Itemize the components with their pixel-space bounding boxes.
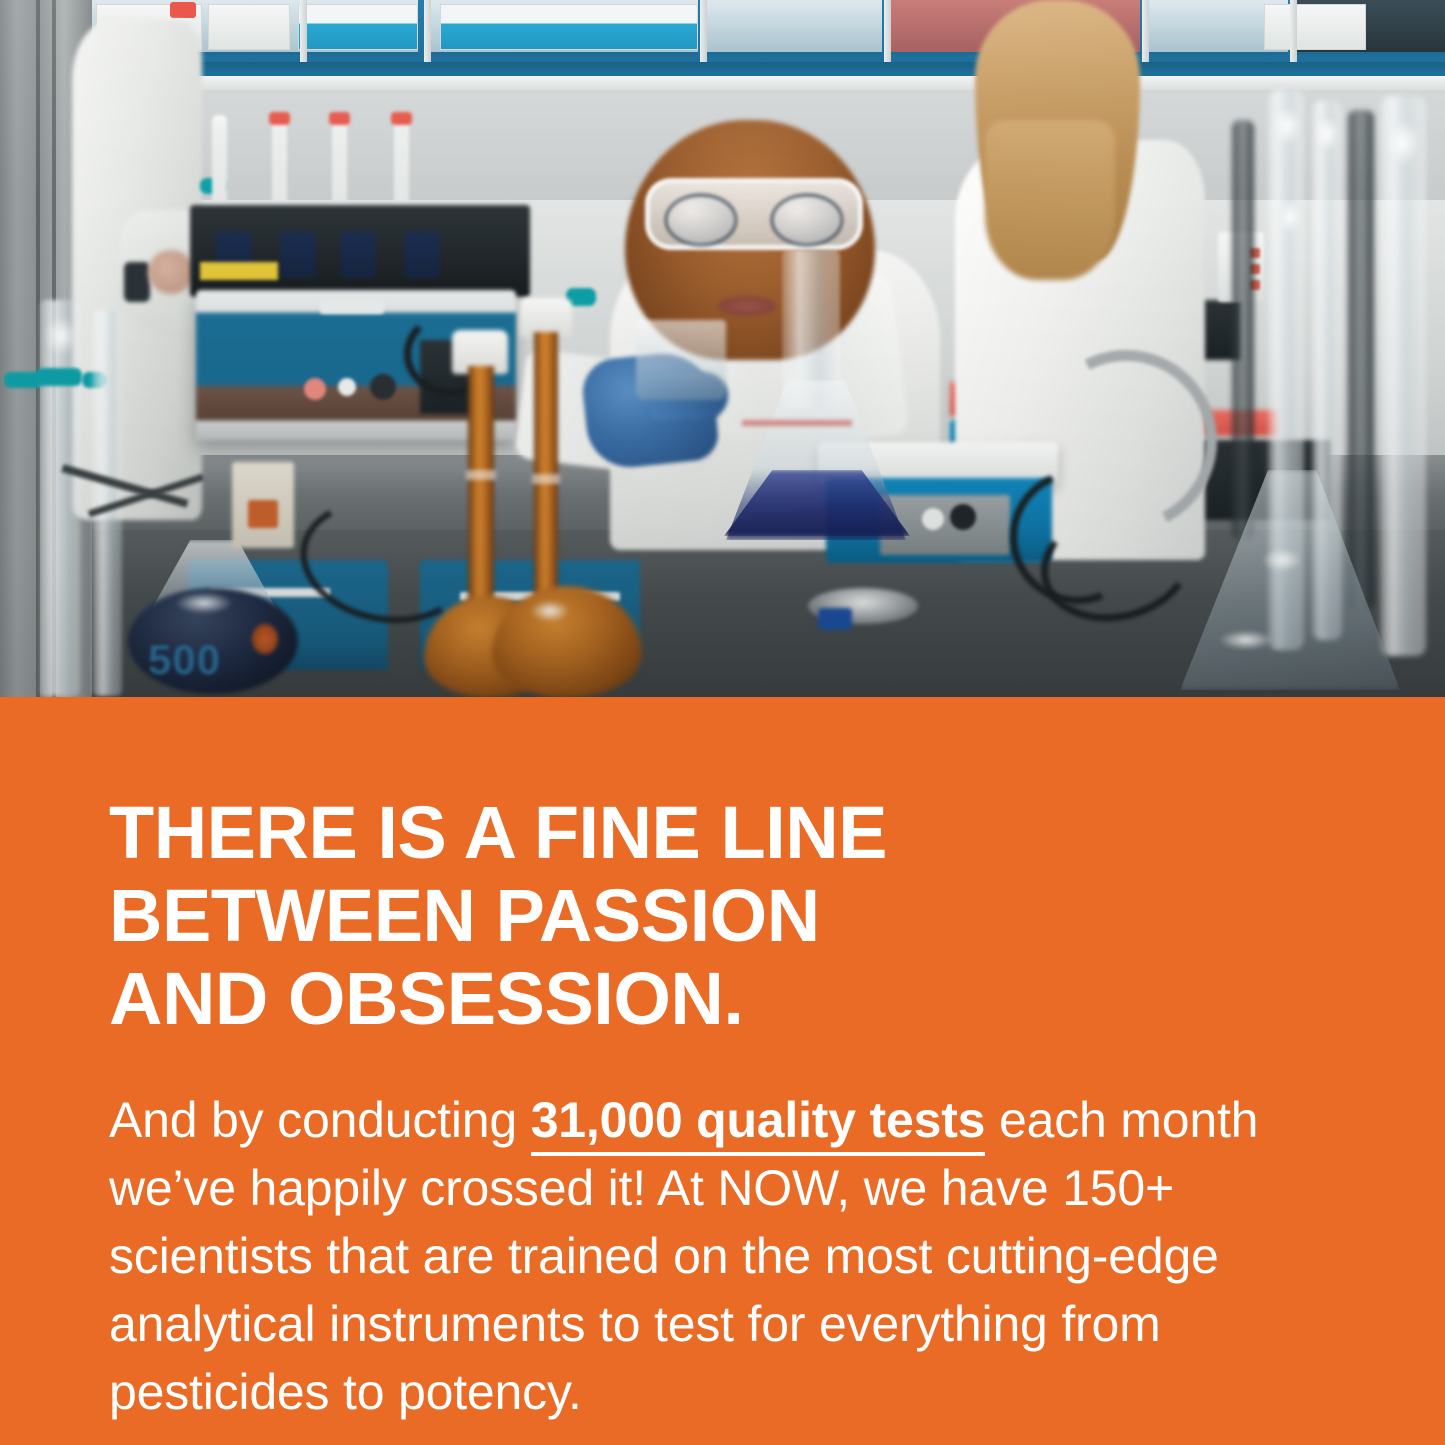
test-tube: [332, 115, 347, 211]
dark-column: [1232, 120, 1254, 540]
glass-highlight: [1272, 106, 1302, 146]
rack-vial: [280, 232, 316, 278]
left-scientist-hand: [148, 250, 194, 294]
cabinet-lip: [60, 76, 1445, 90]
right-scientist-hair-strands: [985, 120, 1115, 280]
dark-column: [1348, 110, 1374, 610]
glass-highlight: [175, 592, 233, 614]
glass-highlight: [1278, 200, 1302, 234]
instrument-knob[interactable]: [304, 378, 326, 400]
rack-yellow-label: [200, 262, 278, 280]
page-title: THERE IS A FINE LINE BETWEEN PASSION AND…: [109, 791, 1339, 1040]
test-tube-cap: [329, 112, 350, 125]
flask-volume-label: 500: [148, 636, 260, 680]
balance-knob[interactable]: [922, 508, 944, 530]
amber-flask-neck: [468, 366, 494, 616]
ad-canvas: 500 THERE IS A FINE LINE BETWEEN PASSION…: [0, 0, 1445, 1445]
balance-knob[interactable]: [950, 504, 976, 530]
small-beaker: [636, 320, 726, 400]
shelf-box-blue: [440, 4, 698, 50]
glass-column: [1380, 96, 1426, 656]
goggle-lens: [664, 193, 738, 247]
goggle-lens: [770, 193, 844, 247]
test-tube: [394, 115, 409, 211]
shelf-box-blue: [298, 4, 418, 50]
blue-marker: [818, 608, 852, 630]
cabinet-divider: [1142, 0, 1149, 68]
shelf-box: [1264, 4, 1366, 50]
cylinder-teal-band: [36, 368, 82, 386]
instrument-knob[interactable]: [370, 374, 396, 400]
orange-copy-panel: THERE IS A FINE LINE BETWEEN PASSION AND…: [0, 697, 1445, 1445]
glass-highlight: [1262, 548, 1302, 572]
lab-photo: 500: [0, 0, 1445, 697]
amber-reflection: [252, 624, 278, 654]
rack-vial: [404, 232, 440, 278]
graduated-cylinder: [40, 300, 80, 696]
flask-graduation-ring: [532, 474, 560, 484]
instrument-display: [320, 300, 384, 314]
flask-graduation-mark: [742, 420, 852, 426]
test-tube: [212, 115, 227, 211]
glass-highlight: [44, 316, 78, 356]
shelf-box: [208, 4, 290, 50]
left-scientist-object: [124, 262, 150, 302]
glass-highlight: [1314, 116, 1340, 152]
cabinet-divider: [424, 0, 431, 68]
glass-highlight: [530, 600, 570, 622]
cabinet-glass-door: [706, 0, 882, 55]
shelf-red-tab: [170, 2, 196, 18]
safety-goggles: [645, 178, 863, 250]
cabinet-divider: [300, 0, 307, 68]
cabinet-divider: [1290, 0, 1297, 68]
outlet-socket: [248, 500, 278, 528]
flask-graduation-ring: [466, 470, 496, 480]
cabinet-divider: [884, 0, 891, 68]
body-copy-before: And by conducting: [109, 1092, 531, 1148]
glass-highlight: [1218, 630, 1274, 650]
body-copy: And by conducting 31,000 quality tests e…: [109, 1086, 1319, 1426]
test-tube: [272, 115, 287, 211]
cabinet-divider: [700, 0, 707, 68]
test-tube-cap: [391, 112, 412, 125]
test-tube-cap: [269, 112, 290, 125]
center-scientist-mouth: [718, 296, 776, 316]
glass-highlight: [1386, 120, 1420, 166]
rack-vial: [340, 232, 376, 278]
instrument-knob[interactable]: [338, 378, 356, 396]
amber-flask-neck: [534, 332, 558, 602]
quality-tests-highlight: 31,000 quality tests: [531, 1092, 986, 1156]
